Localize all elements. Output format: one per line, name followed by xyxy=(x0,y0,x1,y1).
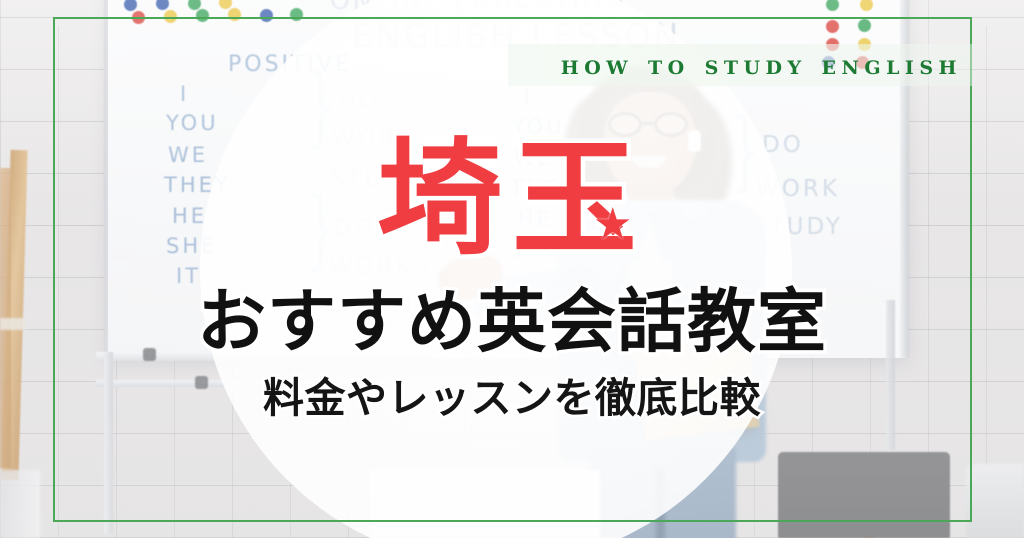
page-tagline: 料金やレッスンを徹底比較 xyxy=(0,378,1024,419)
magnet-red xyxy=(826,20,839,33)
magnet-yellow xyxy=(164,10,177,23)
magnet-blue xyxy=(260,9,273,22)
whiteboard-verb: DO xyxy=(338,88,380,114)
magnet-green xyxy=(196,9,209,22)
whiteboard-heading-top: ONLINE EDUCATION xyxy=(330,0,627,15)
page-subtitle: おすすめ英会話教室 xyxy=(0,288,1024,357)
gray-chair xyxy=(778,452,950,538)
header-label: How to study english xyxy=(508,44,972,86)
banner-image: ONLINE EDUCATION ENGLISH LESSON POSITIVE… xyxy=(0,0,1024,538)
magnet-green xyxy=(858,19,871,32)
whiteboard-pronoun: I xyxy=(180,82,189,106)
magnet-red xyxy=(132,11,145,24)
whiteboard-pronoun: YOU xyxy=(166,111,219,135)
magnet-yellow xyxy=(228,8,241,21)
page-title-prefecture: 埼玉 ★ xyxy=(0,137,1024,262)
radiator xyxy=(0,470,40,538)
jeans-seam xyxy=(656,468,665,538)
star-icon: ★ xyxy=(593,203,632,247)
white-table xyxy=(370,470,600,538)
chair-secondary xyxy=(966,464,1024,538)
magnet-green xyxy=(290,8,303,21)
